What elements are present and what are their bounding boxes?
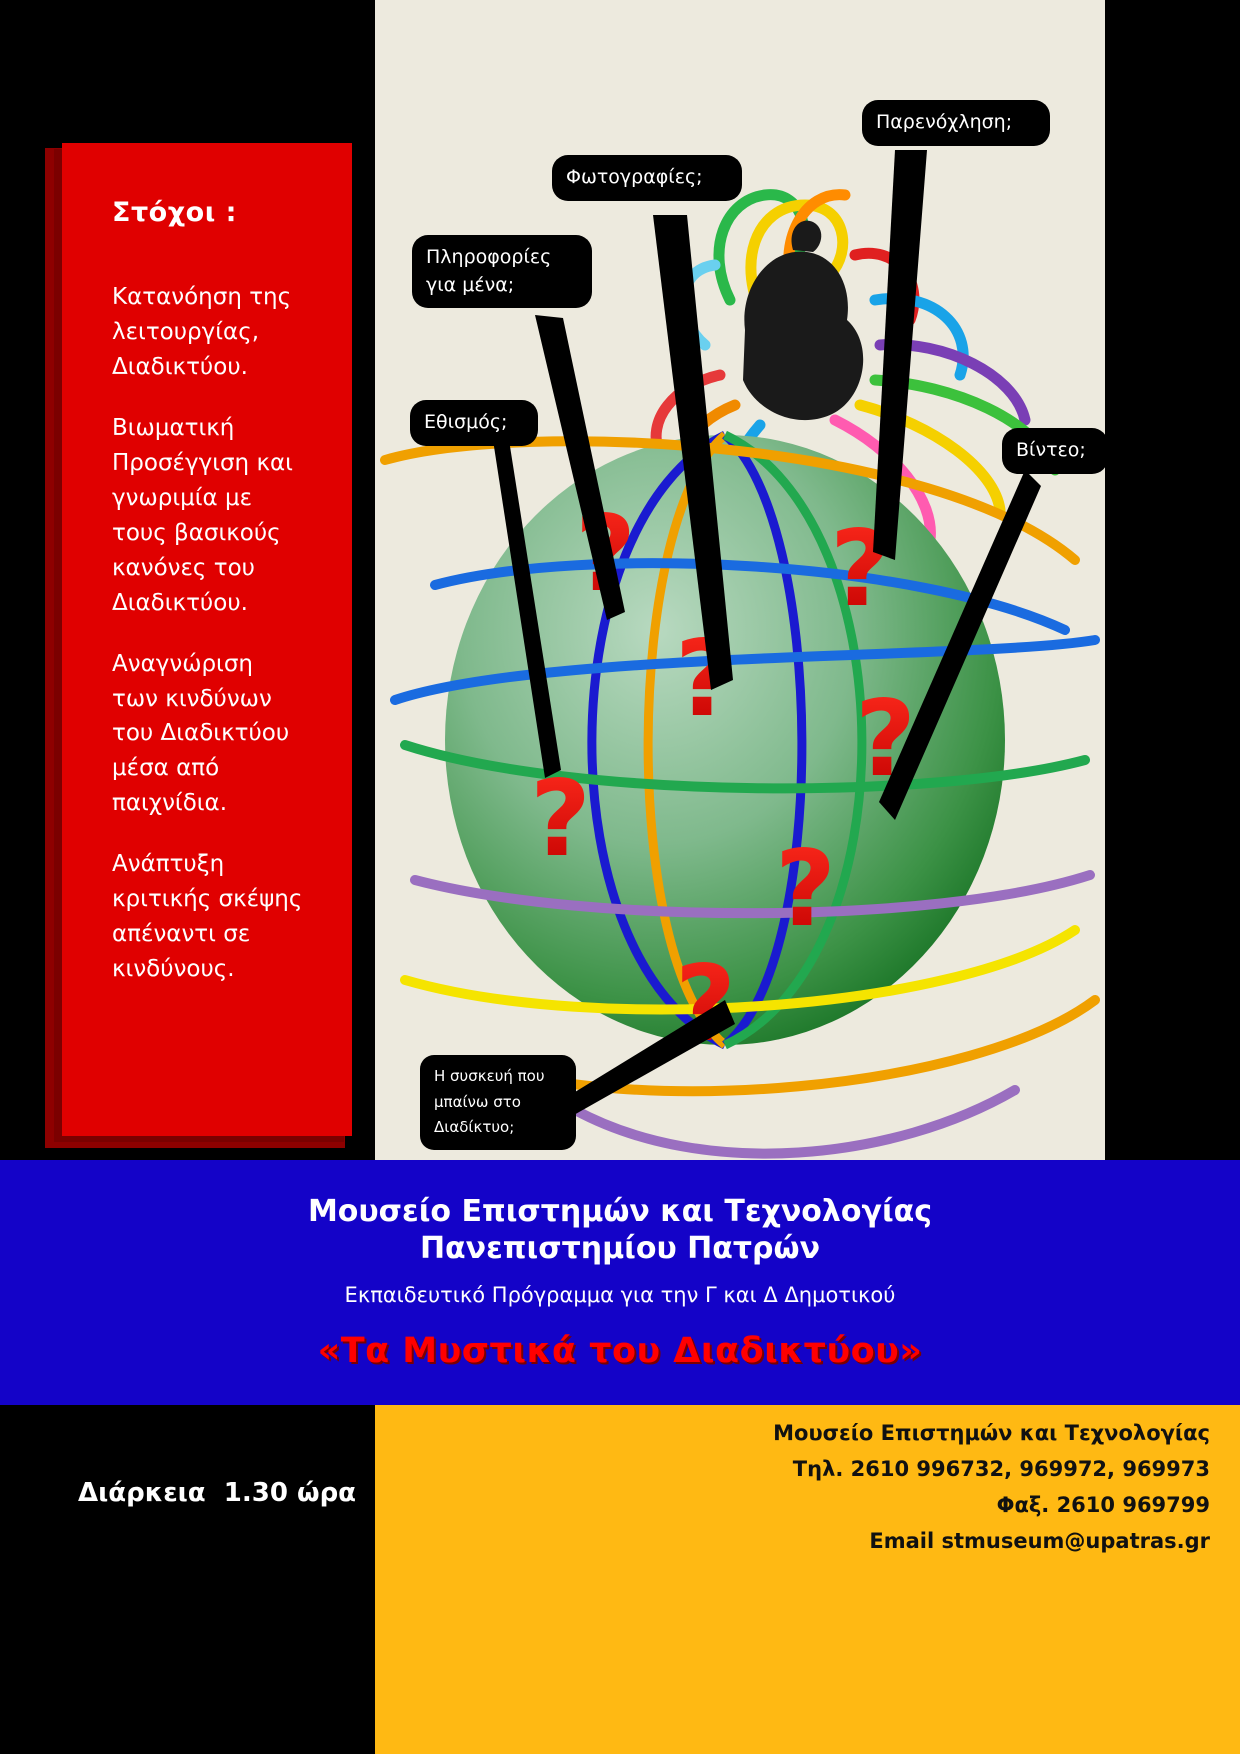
program-title: «Τα Μυστικά του Διαδικτύου» — [0, 1331, 1240, 1371]
bubble-plirofories[interactable]: Πληροφορίες για μένα; — [412, 235, 592, 308]
objective-item: Κατανόηση της λειτουργίας, Διαδικτύου. — [112, 280, 322, 385]
duration-label: Διάρκεια 1.30 ώρα — [78, 1478, 356, 1508]
right-black-margin — [1105, 0, 1240, 1160]
tail-siskevi — [565, 1000, 735, 1120]
tail-plirofories — [535, 315, 625, 620]
tail-ethismos — [493, 440, 561, 778]
bubble-parenoxlisi[interactable]: Παρενόχληση; — [862, 100, 1050, 146]
tail-fotografies — [653, 215, 733, 690]
bubble-fotografies[interactable]: Φωτογραφίες; — [552, 155, 742, 201]
objectives-box: Στόχοι : Κατανόηση της λειτουργίας, Διαδ… — [62, 143, 352, 1136]
bubble-ethismos[interactable]: Εθισμός; — [410, 400, 538, 446]
contact-line[interactable]: Email stmuseum@upatras.gr — [510, 1523, 1210, 1559]
tail-parenoxlisi — [873, 150, 927, 560]
program-subtitle: Εκπαιδευτικό Πρόγραμμα για την Γ και Δ Δ… — [0, 1283, 1240, 1307]
tail-vinteo — [879, 470, 1041, 820]
contact-details: Μουσείο Επιστημών και Τεχνολογίας Τηλ. 2… — [510, 1415, 1210, 1559]
objective-item: Ανάπτυξη κριτικής σκέψης απέναντι σε κιν… — [112, 847, 322, 987]
contact-line: Φαξ. 2610 969799 — [510, 1487, 1210, 1523]
objective-item: Αναγνώριση των κινδύνων του Διαδικτύου μ… — [112, 647, 322, 822]
contact-line: Τηλ. 2610 996732, 969972, 969973 — [510, 1451, 1210, 1487]
objective-item: Βιωματική Προσέγγιση και γνωριμία με του… — [112, 411, 322, 621]
poster-root: ? ? ? ? ? ? ? Παρενόχληση; Φωτογραφίες; … — [0, 0, 1240, 1754]
bubble-vinteo[interactable]: Βίντεο; — [1002, 428, 1108, 474]
blue-banner: Μουσείο Επιστημών και Τεχνολογίας Πανεπι… — [0, 1160, 1240, 1405]
contact-line: Μουσείο Επιστημών και Τεχνολογίας — [510, 1415, 1210, 1451]
objectives-title: Στόχοι : — [112, 197, 322, 228]
museum-name: Μουσείο Επιστημών και Τεχνολογίας Πανεπι… — [0, 1194, 1240, 1267]
bubble-siskevi[interactable]: Η συσκευή που μπαίνω στο Διαδίκτυο; — [420, 1055, 576, 1150]
